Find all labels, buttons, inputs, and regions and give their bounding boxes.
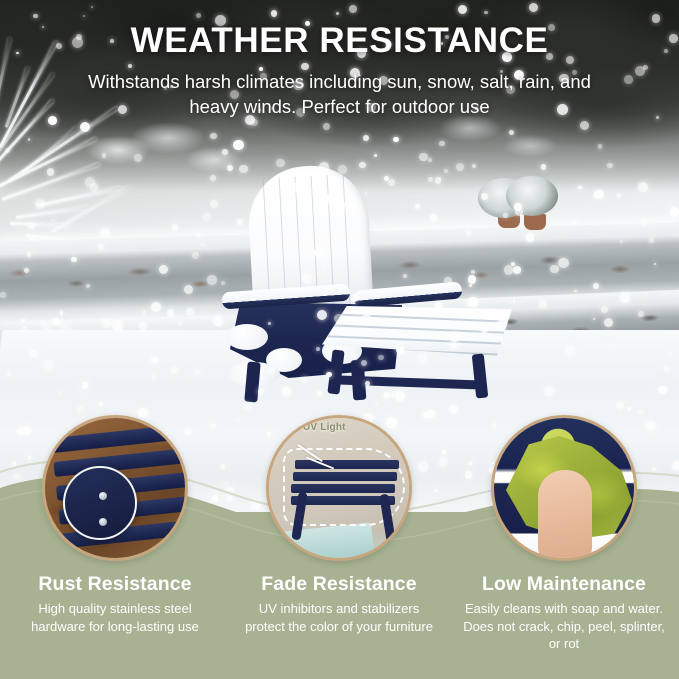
ottoman-rail	[336, 375, 484, 389]
feature-desc-rust: High quality stainless steel hardware fo…	[2, 600, 228, 635]
infographic-canvas: WEATHER RESISTANCE Withstands harsh clim…	[0, 0, 679, 679]
feature-image-rust	[42, 415, 188, 561]
ottoman-footrest	[322, 306, 512, 402]
feature-desc-maintenance: Easily cleans with soap and water. Does …	[451, 600, 677, 652]
ottoman-leg-right	[472, 353, 489, 398]
hand	[538, 470, 592, 561]
planter-pot-right	[524, 214, 546, 230]
snow-shrub-right	[506, 176, 558, 216]
snow-clump-a	[226, 324, 268, 350]
uv-light-label: UV Light	[303, 422, 346, 433]
feature-title-maintenance: Low Maintenance	[451, 574, 677, 595]
feature-title-rust: Rust Resistance	[2, 574, 228, 595]
screw-lower	[99, 518, 107, 526]
feature-list: Rust Resistance High quality stainless s…	[0, 415, 679, 679]
feature-image-maintenance	[491, 415, 637, 561]
magnifier-inset	[63, 466, 137, 540]
feature-low-maintenance[interactable]: Low Maintenance Easily cleans with soap …	[451, 415, 677, 652]
feature-image-fade: UV Light	[266, 415, 412, 561]
feature-fade-resistance[interactable]: UV Light Fade Resistance UV inhibitors a…	[226, 415, 452, 635]
feature-desc-fade: UV inhibitors and stabilizers protect th…	[226, 600, 452, 635]
header-block: WEATHER RESISTANCE Withstands harsh clim…	[0, 22, 679, 119]
ottoman-leg-left	[327, 349, 344, 394]
ottoman-product	[291, 460, 399, 538]
page-title: WEATHER RESISTANCE	[0, 22, 679, 59]
screw-upper	[99, 492, 107, 500]
page-subtitle: Withstands harsh climates including sun,…	[0, 70, 679, 119]
feature-title-fade: Fade Resistance	[226, 574, 452, 595]
feature-rust-resistance[interactable]: Rust Resistance High quality stainless s…	[2, 415, 228, 635]
ottoman-top	[322, 306, 512, 358]
